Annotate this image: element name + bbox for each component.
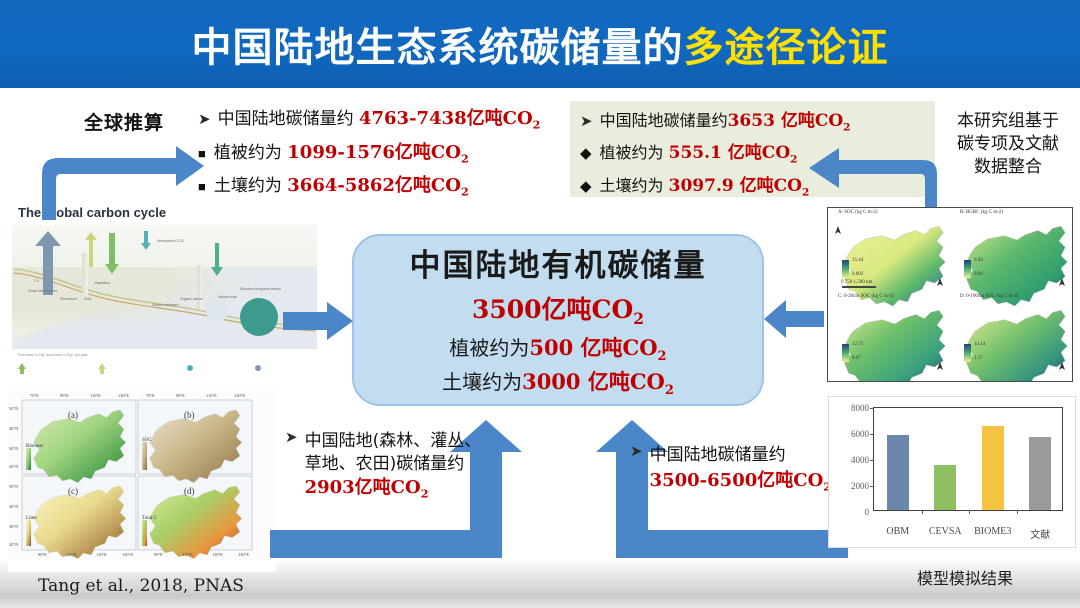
list-item-text: 中国陆地碳储量约 [218,109,359,129]
bar-BIOME3 [982,426,1004,510]
lon-tick-100e-bottom-d: 110°E [182,552,193,557]
value-subscript: 2 [843,121,850,133]
carbon-cycle-label-permafrost: Permafrost [60,297,77,301]
lat-tick-40n-2: 40°N [9,504,18,509]
lon-tick-130e-top-b: 130°E [234,393,245,398]
research-group-note-line3: 数据整合 [941,156,1075,179]
value-text: 1099-1576亿吨CO [287,142,461,163]
tang-legend-b-title: SOC [142,438,152,443]
lon-tick-70e-top-a: 70°E [30,393,39,398]
tang-panel-c-label: (c) [68,486,78,496]
map-a-legend-max: 15.44 [852,258,863,263]
page-title-white: 中国陆地生态系统碳储量的 [192,25,684,71]
lon-tick-130e-bottom-c: 130°E [122,552,133,557]
list-item: ■ 植被约为 1099-1576亿吨CO2 [198,138,578,166]
list-item-text: 植被约为 [214,143,287,163]
central-box-heading: 中国陆地有机碳储量 [410,240,707,285]
carbon-cycle-label-vegetation: Vegetation [94,281,110,285]
value-text: 3664-5862亿吨CO [287,175,461,196]
list-item-value: 1099-1576亿吨CO2 [287,142,468,163]
vegetation-value: 500 亿吨CO2 [529,335,666,360]
square-bullet-icon: ■ [198,180,206,193]
x-axis-tick [922,510,923,514]
carbon-cycle-label-marine: Marine biota [218,295,237,299]
y-axis-tick-label: 6000 [851,429,869,439]
value-subscript: 2 [790,154,797,166]
bar-文献 [1029,437,1051,510]
bottom-left-note: ➤ 中国陆地(森林、灌丛、 草地、农田)碳储量约 2903亿吨CO2 [285,430,515,502]
lat-tick-50n: 50°N [9,406,18,411]
value-text: 3653 亿吨CO [728,111,844,131]
soil-label: 土壤约为 [442,370,522,394]
bar-chart-caption: 模型模拟结果 [880,565,1050,589]
map-b-legend-max: 0.29 [974,258,983,263]
tang-panel-a-label: (a) [68,410,78,420]
lon-tick-130e-top-a: 130°E [118,393,129,398]
map-scalebar-label: 0 750 1,500 km [841,280,872,285]
arrow-carbon-cycle-to-global-estimate [38,140,208,222]
arrow-maps-to-center-box [762,296,826,342]
map-panel-c-label: C: 0-20cm SOC (kg C m-2) [838,294,894,299]
lon-tick-90e-top-b: 90°E [176,393,185,398]
page-title-yellow: 多途径论证 [684,25,889,71]
arrow-bullet-icon: ➤ [198,112,211,127]
bottom-left-note-line1: 中国陆地(森林、灌丛、 [305,430,482,453]
value-subscript: 2 [461,186,469,199]
china-carbon-density-maps: A: SOC (kg C m-2) B: BGBC (kg C m-2) C: … [827,207,1073,382]
carbon-cycle-up-arrow-icon [34,229,62,297]
list-item-value: 3653 亿吨CO2 [728,111,851,131]
central-box-soil-line: 土壤约为3000 亿吨CO2 [442,366,674,398]
vegetation-value-text: 500 亿吨CO [529,335,657,360]
lat-tick-20n: 20°N [9,464,18,469]
carbon-cycle-label-soils: Soils [84,297,91,301]
page-title: 中国陆地生态系统碳储量的多途径论证 [192,15,889,73]
list-item-label: 土壤约为 3664-5862亿吨CO2 [214,171,469,199]
global-estimate-label: 全球推算 [84,108,164,135]
map-a-legend-min: 0.002 [852,272,863,277]
list-item-text: 植被约为 [600,143,669,162]
research-group-note-line2: 碳专项及文献 [941,133,1075,156]
lat-tick-30n-2: 30°N [9,524,18,529]
list-item: ➤ 中国陆地碳储量约 4763-7438亿吨CO2 [198,104,578,132]
soil-value-subscript: 2 [665,383,674,398]
arrow-bullet-icon: ➤ [285,430,298,445]
tang-2018-china-maps: (a) (b) (c) (d) Biomass SOC Litter Total… [8,390,276,572]
value-subscript: 2 [533,119,541,132]
soil-value-text: 3000 亿吨CO [522,369,665,394]
bottom-right-note-line1: 中国陆地碳储量约 [650,444,831,468]
carbon-cycle-label-fossil: Fossil fuel reserves [28,289,57,293]
value-text: 2903亿吨CO [305,477,421,498]
lat-tick-30n: 30°N [9,446,18,451]
x-axis-label-BIOME3: BIOME3 [969,526,1017,537]
lat-tick-50n-2: 50°N [9,484,18,489]
map-panel-d-label: D: 0-100cm SOC (kg C m-2) [960,294,1018,299]
model-simulation-bar-chart: 02000400060008000OBMCEVSABIOME3文献 [828,396,1076,548]
x-axis-tick [1017,510,1018,514]
lat-tick-20n-2: 20°N [9,542,18,547]
arrow-bullet-icon: ➤ [630,444,643,459]
map-d-legend-min: 2.17 [974,356,983,361]
central-box-total-value: 3500亿吨CO2 [472,290,644,328]
bottom-right-note-value: 3500-6500亿吨CO2 [650,468,831,495]
tang-panel-b-label: (b) [184,410,195,420]
y-axis-tick-label: 0 [865,507,870,517]
research-group-note-line1: 本研究组基于 [941,110,1075,133]
soil-value: 3000 亿吨CO2 [522,369,674,394]
lon-tick-110e-top-a: 110°E [90,393,101,398]
bottom-left-note-value: 2903亿吨CO2 [305,476,482,502]
tang-panel-d-label: (d) [184,486,195,496]
list-item-label: 植被约为 555.1 亿吨CO2 [600,138,798,165]
arrow-bullet-icon: ➤ [580,114,593,129]
carbon-cycle-small-arrow-up-icon [84,231,98,269]
global-estimate-list: ➤ 中国陆地碳储量约 4763-7438亿吨CO2 ■ 植被约为 1099-15… [198,104,578,205]
x-axis-label-OBM: OBM [874,526,922,537]
vegetation-label: 植被约为 [449,336,529,360]
central-box-vegetation-line: 植被约为500 亿吨CO2 [449,332,666,364]
lon-tick-100e-bottom-c: 110°E [66,552,77,557]
figure-citation: Tang et al., 2018, PNAS [0,576,282,596]
map-c-legend-max: 12.71 [852,342,863,347]
value-text: 3500-6500亿吨CO [650,470,824,491]
value-text: 555.1 亿吨CO [669,143,791,163]
map-c-legend-min: 0.07 [852,356,861,361]
diamond-bullet-icon: ◆ [580,146,592,161]
list-item-text: 中国陆地碳储量约 [600,111,728,130]
list-item-label: 中国陆地碳储量约 4763-7438亿吨CO2 [218,104,541,132]
list-item-text: 土壤约为 [600,176,669,195]
global-carbon-cycle-figure: The global carbon cycle [12,203,317,378]
slide-bottom-edge [0,594,1080,608]
research-group-note: 本研究组基于 碳专项及文献 数据整合 [941,110,1075,179]
map-panel-b-label: B: BGBC (kg C m-2) [960,210,1003,215]
lon-tick-90e-top-a: 90°E [60,393,69,398]
x-axis-tick [969,510,970,514]
diamond-bullet-icon: ◆ [580,179,592,194]
lon-tick-130e-bottom-d: 130°E [238,552,249,557]
y-axis-tick-label: 4000 [851,455,869,465]
lon-tick-110e-bottom-d: 110°E [212,552,223,557]
list-item: ■ 土壤约为 3664-5862亿吨CO2 [198,171,578,199]
list-item-value: 3664-5862亿吨CO2 [287,175,468,196]
vegetation-value-subscript: 2 [658,349,667,364]
value-text: 3097.9 亿吨CO [669,176,802,196]
title-banner-inner: 中国陆地生态系统碳储量的多途径论证 [0,0,1080,88]
total-value-subscript: 2 [633,309,644,328]
list-item-label: 植被约为 1099-1576亿吨CO2 [214,138,469,166]
lon-tick-110e-top-b: 110°E [206,393,217,398]
lat-tick-40n: 40°N [9,426,18,431]
bar-OBM [887,435,909,510]
list-item-text: 土壤约为 [214,176,287,196]
carbon-cycle-label-surface: Surface sediment [152,303,178,307]
total-value-text: 3500亿吨CO [472,295,633,324]
y-axis-tick-label: 8000 [851,403,869,413]
lon-tick-90e-bottom-c: 90°E [38,552,47,557]
bar-CEVSA [934,465,956,510]
carbon-cycle-footnote: Pool sizes in PgC and fluxes in PgC per … [18,353,310,358]
carbon-cycle-label-flux: 2.4 [34,279,39,283]
carbon-cycle-arrow-down-2-icon [210,241,224,277]
y-axis-tick [870,460,874,461]
tang-legend-a-title: Biomass [26,444,43,449]
carbon-cycle-label-organic: Organic carbon [180,297,203,301]
bottom-left-note-body: 中国陆地(森林、灌丛、 草地、农田)碳储量约 2903亿吨CO2 [305,430,482,502]
list-item-value: 4763-7438亿吨CO2 [359,108,540,129]
y-axis-tick [870,486,874,487]
bottom-left-note-line2: 草地、农田)碳储量约 [305,453,482,476]
list-item-label: 土壤约为 3097.9 亿吨CO2 [600,171,810,198]
y-axis-tick [870,408,874,409]
arrow-carbon-cycle-to-center-box [283,300,355,342]
lon-tick-90e-bottom-d: 90°E [154,552,163,557]
slide-canvas: 中国陆地生态系统碳储量的多途径论证 The global carbon cycl… [0,0,1080,608]
bottom-right-note: ➤ 中国陆地碳储量约 3500-6500亿吨CO2 [630,444,845,495]
square-bullet-icon: ■ [198,147,206,160]
list-item: ➤ 中国陆地碳储量约3653 亿吨CO2 [580,106,930,133]
tang-maps-svg [8,390,276,560]
lon-tick-70e-top-b: 70°E [146,393,155,398]
y-axis-tick [870,434,874,435]
central-summary-box: 中国陆地有机碳储量 3500亿吨CO2 植被约为500 亿吨CO2 土壤约为30… [352,234,764,406]
carbon-cycle-label-ocean: Dissolved inorganic carbon [240,287,281,291]
value-text: 4763-7438亿吨CO [359,108,533,129]
list-item-value: 3097.9 亿吨CO2 [669,176,810,196]
value-subscript: 2 [461,152,469,165]
carbon-cycle-legend-icons [18,361,308,377]
list-item-value: 555.1 亿吨CO2 [669,143,798,163]
bar-chart-plot-area: 02000400060008000OBMCEVSABIOME3文献 [873,407,1063,511]
map-panel-a-label: A: SOC (kg C m-2) [838,210,877,215]
carbon-cycle-arrow-down-3-icon [140,229,152,251]
list-item-label: 中国陆地碳储量约3653 亿吨CO2 [600,106,851,133]
value-subscript: 2 [421,487,429,500]
x-axis-label-文献: 文献 [1017,526,1065,541]
map-b-legend-min: 0.04 [974,272,983,277]
tang-legend-c-title: Litter [26,516,37,521]
x-axis-label-CEVSA: CEVSA [922,526,970,537]
carbon-cycle-body: 2.4 Atmospheric CO2 Vegetation Soils Per… [12,225,317,349]
bottom-right-note-body: 中国陆地碳储量约 3500-6500亿吨CO2 [650,444,831,495]
carbon-cycle-label-atmosphere: Atmospheric CO2 [157,239,184,243]
y-axis-tick-label: 2000 [851,481,869,491]
map-d-legend-max: 14.14 [974,342,985,347]
lon-tick-110e-bottom-c: 110°E [96,552,107,557]
tang-legend-d-title: Total C [142,516,157,521]
carbon-cycle-small-arrow-down-icon [104,231,120,275]
